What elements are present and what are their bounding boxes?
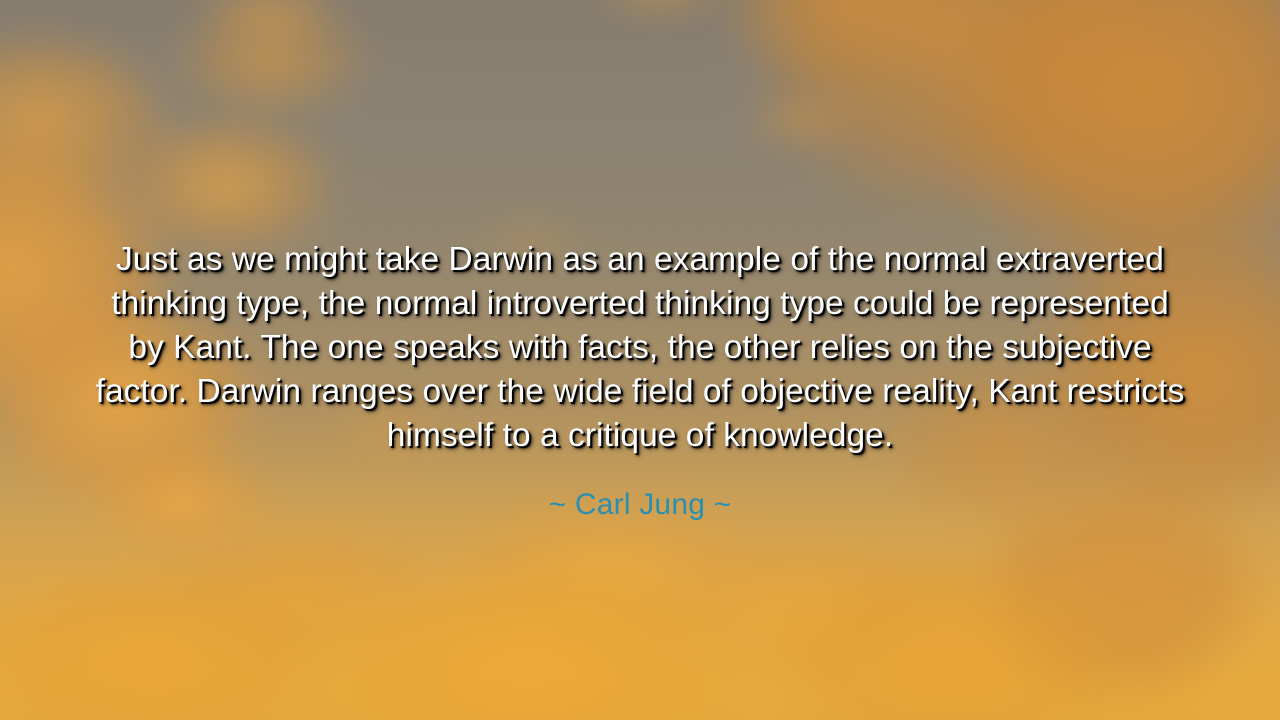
quote-attribution: ~ Carl Jung ~ (549, 486, 732, 524)
quote-image: Just as we might take Darwin as an examp… (0, 0, 1280, 720)
quote-content: Just as we might take Darwin as an examp… (0, 0, 1280, 720)
quote-text: Just as we might take Darwin as an examp… (95, 238, 1185, 458)
